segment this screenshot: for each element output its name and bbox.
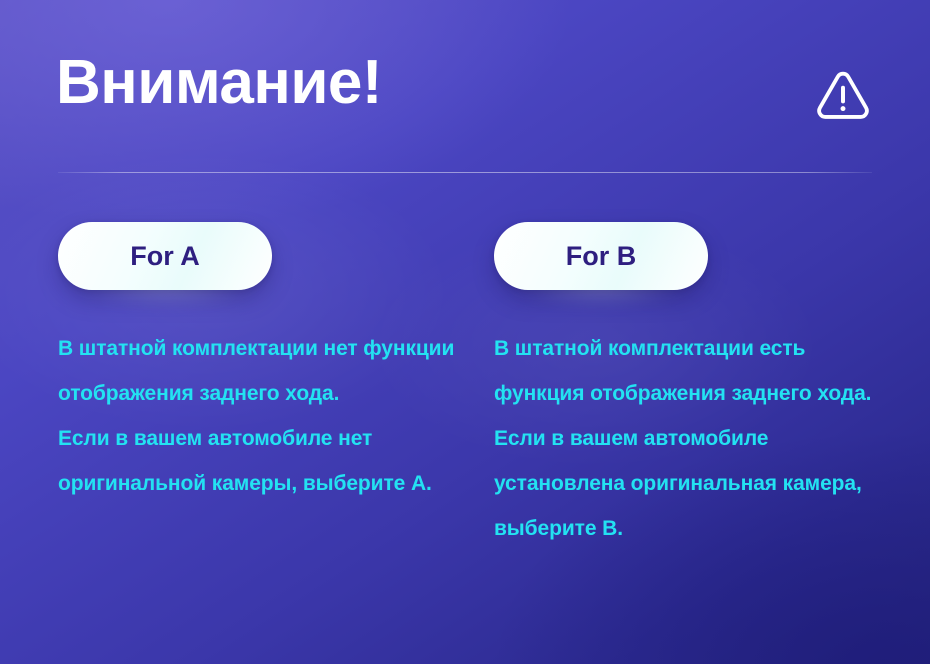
option-column-a: For A В штатной комплектации нет функции… xyxy=(58,218,468,290)
warning-triangle-icon xyxy=(814,66,872,124)
option-b-paragraph-2: Если в вашем автомобиле установлена ориг… xyxy=(494,416,894,551)
page-title: Внимание! xyxy=(56,52,382,114)
warning-banner: Внимание! For A В штатной комплектации н… xyxy=(0,0,930,664)
option-a-button[interactable]: For A xyxy=(58,222,272,290)
option-a-paragraph-2: Если в вашем автомобиле нет оригинальной… xyxy=(58,416,458,506)
option-a-paragraph-1: В штатной комплектации нет функции отобр… xyxy=(58,326,458,416)
option-a-pill-wrap: For A xyxy=(58,218,272,290)
option-a-description: В штатной комплектации нет функции отобр… xyxy=(58,326,458,506)
option-b-button[interactable]: For B xyxy=(494,222,708,290)
option-column-b: For B В штатной комплектации есть функци… xyxy=(494,218,904,290)
option-b-paragraph-1: В штатной комплектации есть функция отоб… xyxy=(494,326,894,416)
header-divider xyxy=(58,172,872,173)
option-a-label: For A xyxy=(130,243,200,270)
option-b-label: For B xyxy=(566,243,637,270)
option-b-description: В штатной комплектации есть функция отоб… xyxy=(494,326,894,551)
option-b-pill-wrap: For B xyxy=(494,218,708,290)
